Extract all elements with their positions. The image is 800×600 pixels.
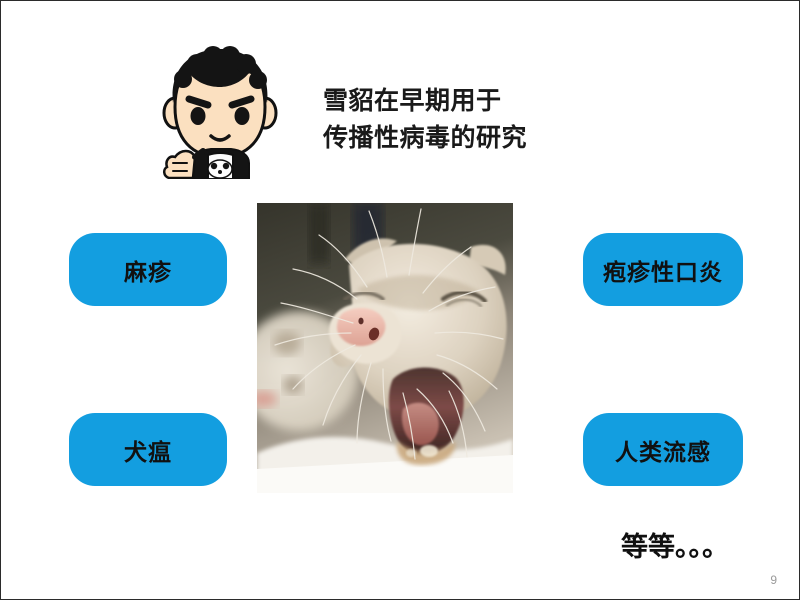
cartoon-avatar-icon (153, 45, 289, 179)
disease-box-label: 犬瘟 (124, 433, 172, 467)
disease-box-label: 人类流感 (615, 433, 711, 467)
disease-box-label: 麻疹 (124, 253, 172, 287)
disease-box-label: 疱疹性口炎 (603, 253, 723, 287)
slide-canvas: 雪貂在早期用于 传播性病毒的研究 麻疹 疱疹性口炎 犬瘟 人类流感 (0, 0, 800, 600)
etc-text: 等等。。。 (621, 525, 771, 564)
disease-box-distemper[interactable]: 犬瘟 (69, 413, 227, 486)
disease-box-measles[interactable]: 麻疹 (69, 233, 227, 306)
disease-box-stomatitis[interactable]: 疱疹性口炎 (583, 233, 743, 306)
slide-title: 雪貂在早期用于 传播性病毒的研究 (323, 83, 623, 157)
disease-box-influenza[interactable]: 人类流感 (583, 413, 743, 486)
page-number: 9 (770, 573, 777, 587)
ferret-photo (257, 203, 513, 493)
